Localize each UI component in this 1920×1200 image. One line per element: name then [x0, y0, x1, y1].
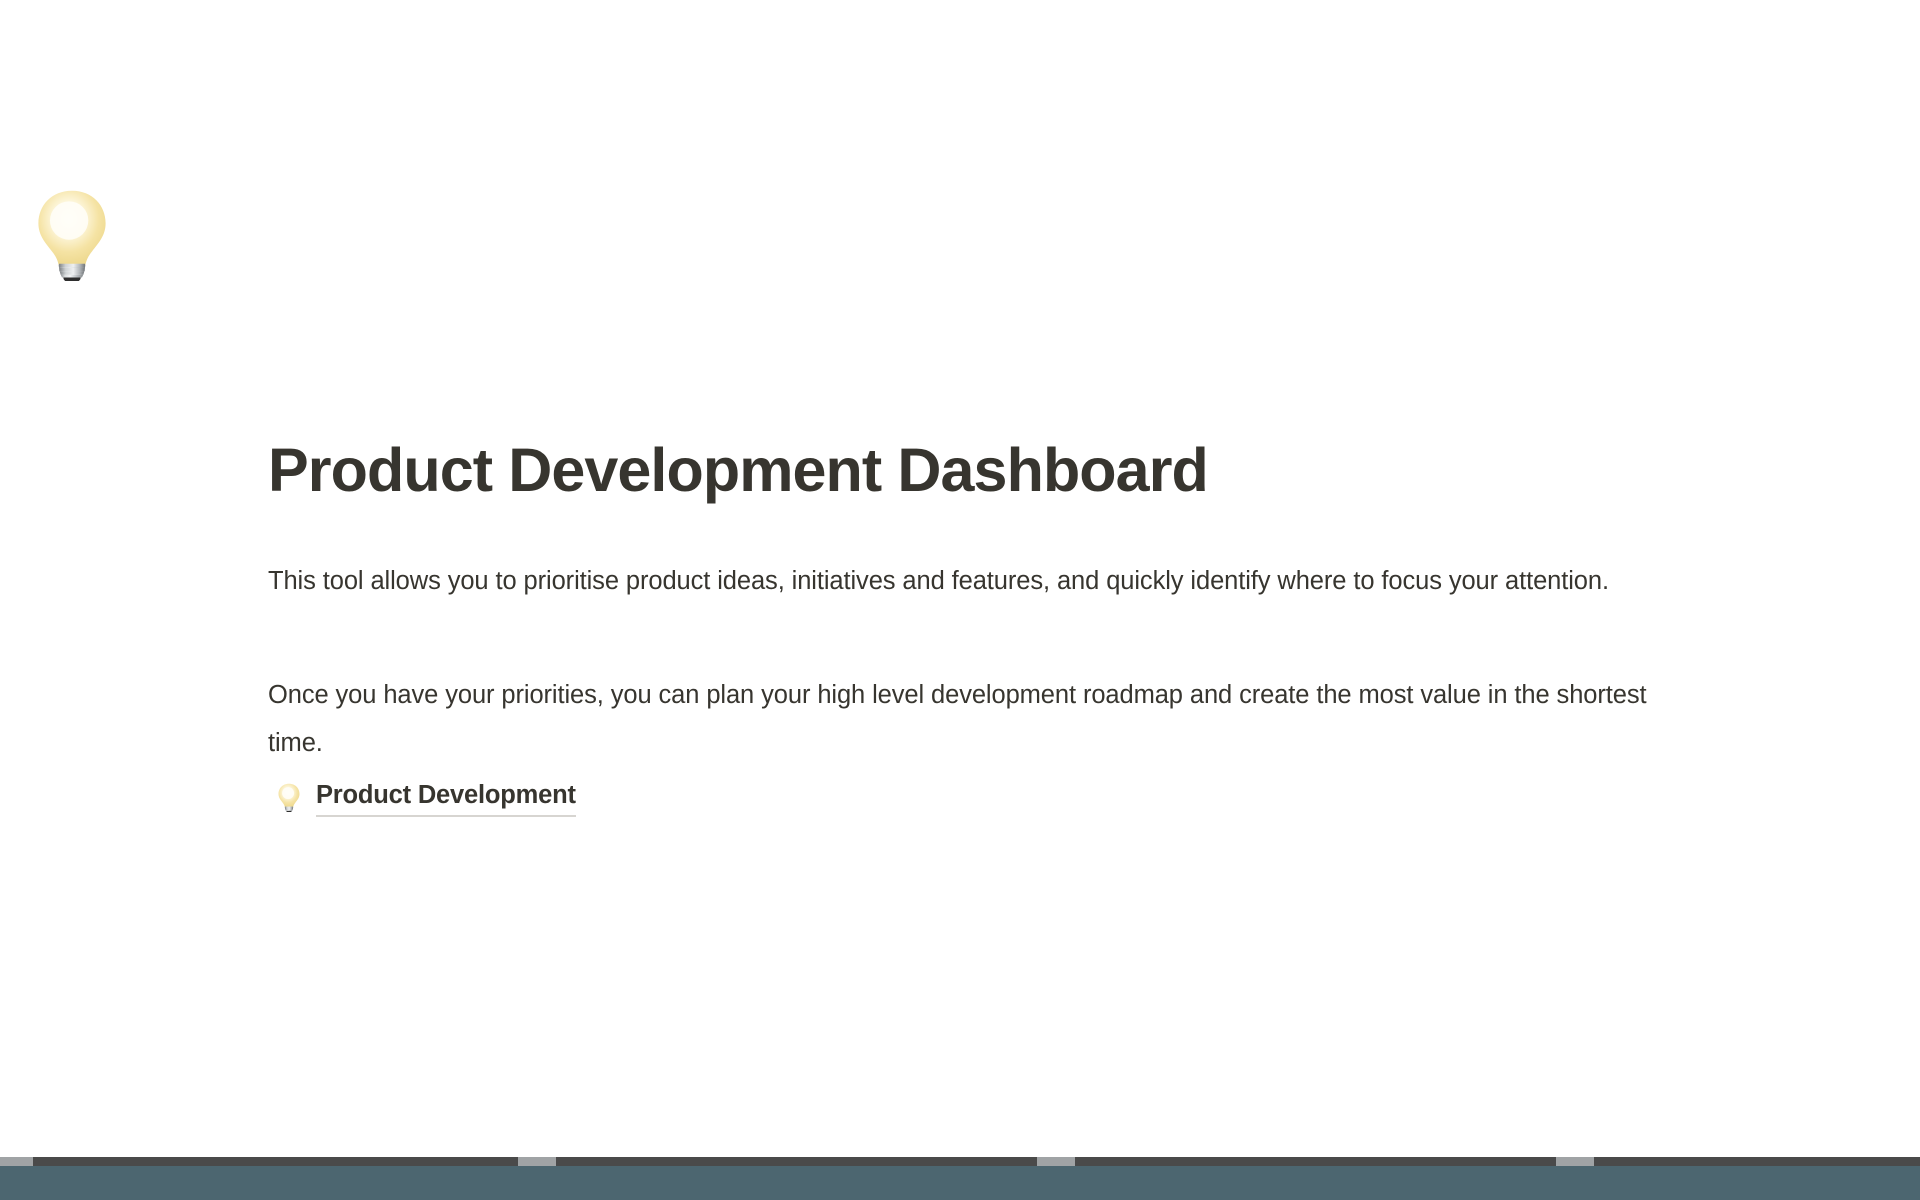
- page-link-product-development[interactable]: Product Development: [316, 778, 576, 817]
- chrome-tab-marker-3[interactable]: [1037, 1157, 1075, 1166]
- page-link-row: Product Development: [268, 775, 576, 819]
- intro-paragraph-2: Once you have your priorities, you can p…: [268, 671, 1692, 767]
- bottom-chrome-bar: [0, 1157, 1920, 1200]
- chrome-tab-marker-1[interactable]: [0, 1157, 33, 1166]
- intro-paragraph-1: This tool allows you to prioritise produ…: [268, 557, 1692, 605]
- chrome-tab-marker-4[interactable]: [1556, 1157, 1594, 1166]
- lightbulb-icon-small: [274, 782, 304, 812]
- page-title: Product Development Dashboard: [268, 434, 1698, 506]
- chrome-tab-strip: [0, 1157, 1920, 1166]
- app-root: Product Development Dashboard This tool …: [0, 0, 1920, 1200]
- document-page: Product Development Dashboard This tool …: [0, 0, 1920, 1157]
- chrome-tab-marker-2[interactable]: [518, 1157, 556, 1166]
- lightbulb-icon[interactable]: [24, 185, 120, 281]
- chrome-bar-body[interactable]: [0, 1166, 1920, 1200]
